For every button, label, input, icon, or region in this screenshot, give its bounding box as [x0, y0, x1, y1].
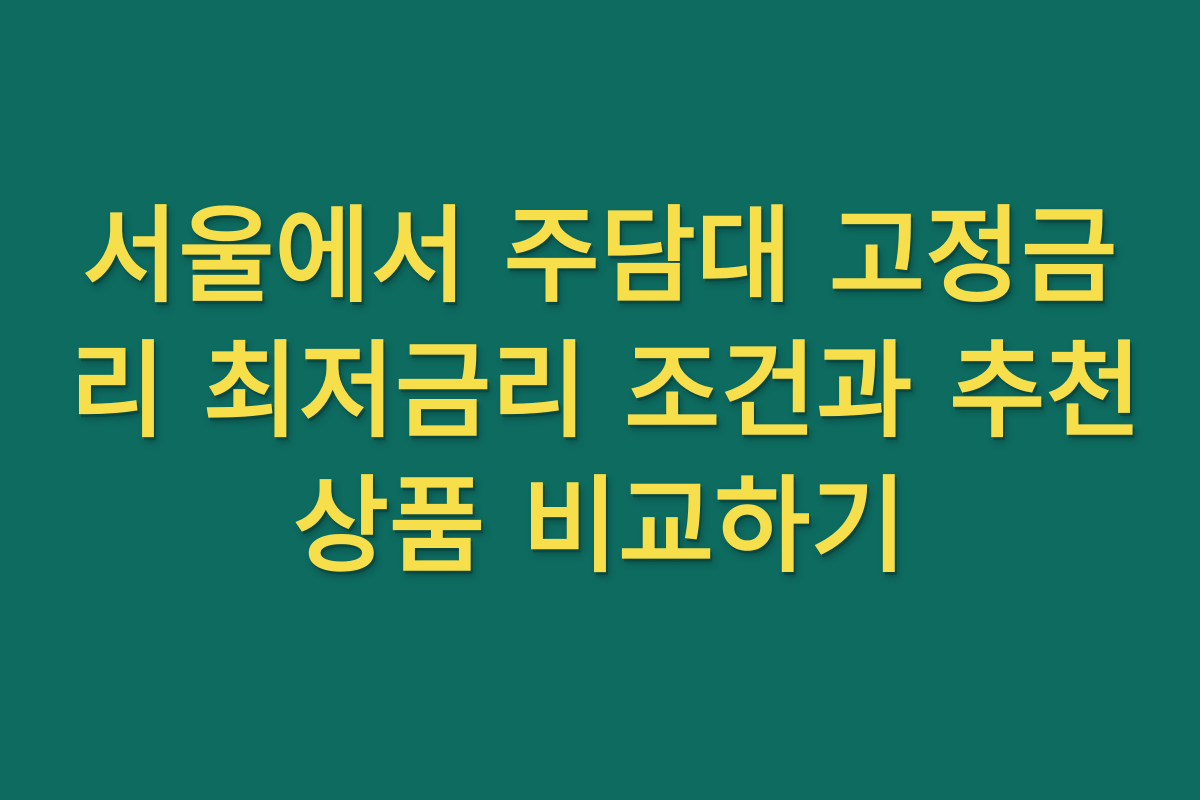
title-text-block: 서울에서 주담대 고정금 리 최저금리 조건과 추천 상품 비교하기	[70, 189, 1130, 594]
title-line-3: 상품 비교하기	[70, 459, 1130, 594]
title-line-1: 서울에서 주담대 고정금	[70, 189, 1130, 324]
title-line-2: 리 최저금리 조건과 추천	[70, 324, 1130, 459]
thumbnail-canvas: 서울에서 주담대 고정금 리 최저금리 조건과 추천 상품 비교하기	[0, 0, 1200, 800]
